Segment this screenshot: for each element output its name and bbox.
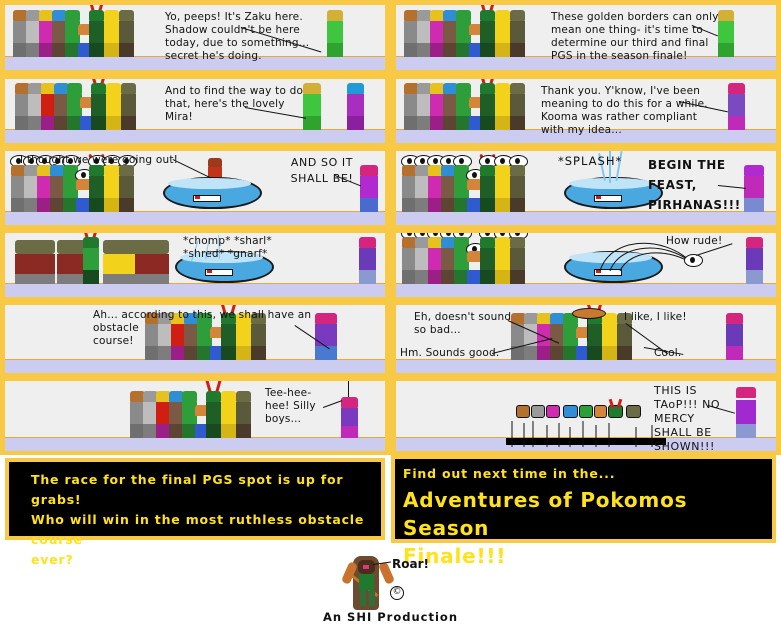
panel-10-dialogue-b: Hm. Sounds good.: [400, 347, 520, 360]
panel-2: These golden borders can only mean one t…: [396, 5, 776, 70]
panel-1-dialogue: Yo, peeps! It's Zaku here. Shadow couldn…: [165, 11, 380, 63]
production-credit: An SHI Production: [0, 610, 781, 624]
panel-2-dialogue: These golden borders can only mean one t…: [551, 11, 776, 63]
panel-8-dialogue: How rude!: [666, 235, 746, 248]
panel-11-dialogue: Tee-hee- hee! Silly boys...: [265, 387, 327, 426]
mascot-leg-left: [360, 590, 366, 606]
character-head-horned: [608, 405, 623, 418]
panel-floor: [396, 360, 776, 373]
panel-6-sfx: *SPLASH*: [558, 155, 648, 168]
panel-5-dialogue-right: AND SO IT SHALL BE!: [277, 155, 367, 187]
crowd-group-eyes: [402, 233, 542, 284]
comic-row-4: *chomp* *sharl* *shred* *gnarf*: [0, 229, 781, 301]
panel-5-dialogue-left: I thought we were going out!: [20, 154, 185, 167]
character-head: [579, 405, 593, 418]
panel-12-dialogue: THIS IS TAoP!!! NO MERCY SHALL BE SHOWN!…: [654, 384, 734, 451]
panel-7-sfx: *chomp* *sharl* *shred* *gnarf*: [183, 235, 308, 261]
panel-4: Thank you. Y'know, I've been meaning to …: [396, 79, 776, 143]
crowd-group: [13, 5, 143, 57]
roar-label: Roar!: [392, 557, 429, 571]
comic-row-3: I thought we were going out! AND SO IT S…: [0, 147, 781, 229]
crowd-group: [404, 5, 534, 57]
caption-right-intro: Find out next time in the...: [395, 459, 772, 484]
panel-6-dialogue: BEGIN THE FEAST, PIRHANAS!!!: [648, 155, 758, 215]
panel-1: Yo, peeps! It's Zaku here. Shadow couldn…: [5, 5, 385, 70]
mascot-torso: [359, 574, 374, 590]
panel-9-dialogue: Ah... according to this, we shall have a…: [93, 309, 353, 348]
comic-row-6: Tee-hee- hee! Silly boys...: [0, 377, 781, 455]
character-head: [594, 405, 607, 418]
crowd-group-helmets: [15, 236, 170, 284]
character-head: [516, 405, 530, 418]
crowd-group: [130, 386, 260, 438]
panel-10-dialogue-c: I like, I like!: [624, 311, 734, 324]
comic-row-1: Yo, peeps! It's Zaku here. Shadow couldn…: [0, 0, 781, 75]
panel-4-dialogue: Thank you. Y'know, I've been meaning to …: [541, 85, 776, 137]
footer-block: Roar! © An SHI Production: [0, 552, 781, 625]
crowd-group: [404, 79, 534, 130]
panel-11: Tee-hee- hee! Silly boys...: [5, 381, 385, 451]
mascot-leg-right: [369, 590, 375, 606]
panel-5: I thought we were going out! AND SO IT S…: [5, 151, 385, 225]
crowd-group: [15, 79, 145, 130]
comic-page: Yo, peeps! It's Zaku here. Shadow couldn…: [0, 0, 781, 625]
googly-eye-icon: [684, 254, 703, 267]
heads-row: [516, 405, 646, 421]
mascot-sprite: [345, 552, 391, 610]
pool-object: [163, 175, 258, 209]
pool-object: [564, 175, 659, 209]
panel-floor: [396, 284, 776, 297]
panel-12: THIS IS TAoP!!! NO MERCY SHALL BE SHOWN!…: [396, 381, 776, 451]
panel-3-dialogue: And to find the way to do that, here's t…: [165, 85, 365, 124]
pool-label: [205, 269, 233, 276]
mira-sprite: [736, 384, 756, 438]
caption-box-left: The race for the final PGS spot is up fo…: [5, 458, 385, 540]
panel-6: *SPLASH* BEGIN THE FEAST, PIRHANAS!!!: [396, 151, 776, 225]
mira-sprite-hanging: [341, 394, 358, 438]
crowd-group-eyes: [402, 154, 542, 212]
panel-floor: [5, 360, 385, 373]
panel-floor: [5, 212, 385, 225]
panel-10: Eh, doesn't sound so bad... Hm. Sounds g…: [396, 305, 776, 373]
character-head: [546, 405, 560, 418]
pool-label: [594, 195, 622, 202]
mascot-head: [358, 560, 375, 574]
spikes-group: [506, 421, 666, 447]
pool-water: [168, 178, 251, 189]
character-head: [626, 405, 641, 418]
comic-row-5: Ah... according to this, we shall have a…: [0, 301, 781, 377]
comic-row-2: And to find the way to do that, here's t…: [0, 75, 781, 147]
flying-disc-icon: [572, 308, 606, 319]
panel-10-dialogue-a: Eh, doesn't sound so bad...: [414, 311, 524, 337]
panel-floor: [5, 438, 385, 451]
thrown-character-sprite: [686, 257, 700, 269]
panel-floor: [5, 130, 385, 143]
character-head: [531, 405, 545, 418]
panel-floor: [5, 284, 385, 297]
character-head: [563, 405, 578, 418]
pool-label: [193, 195, 221, 202]
panel-7: *chomp* *sharl* *shred* *gnarf*: [5, 233, 385, 297]
panel-9: Ah... according to this, we shall have a…: [5, 305, 385, 373]
panel-8: How rude!: [396, 233, 776, 297]
panel-10-dialogue-d: Cool.: [654, 347, 714, 360]
panel-3: And to find the way to do that, here's t…: [5, 79, 385, 143]
copyright-mark: ©: [390, 586, 404, 600]
caption-box-right: Find out next time in the... Adventures …: [391, 455, 776, 543]
disc-trail: [587, 319, 588, 341]
